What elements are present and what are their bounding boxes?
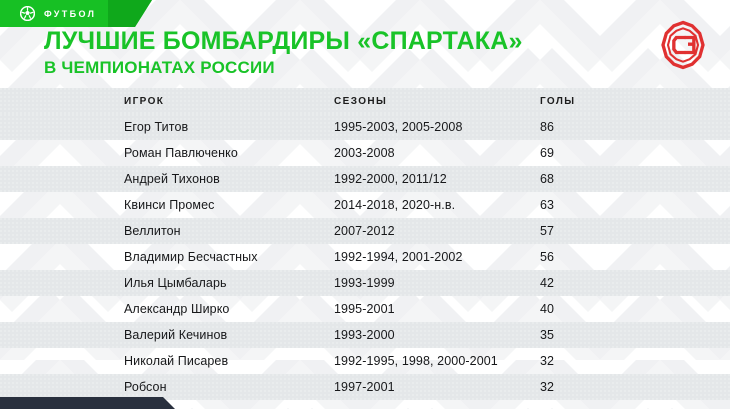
cell-goals: 86	[540, 120, 554, 134]
cell-player: Веллитон	[124, 224, 181, 238]
table-row: Владимир Бесчастных 1992-1994, 2001-2002…	[0, 244, 730, 270]
cell-player: Александр Ширко	[124, 302, 229, 316]
cell-goals: 32	[540, 380, 554, 394]
cell-seasons: 1992-1994, 2001-2002	[334, 250, 463, 264]
table-row: Илья Цымбаларь 1993-1999 42	[0, 270, 730, 296]
cell-player: Квинси Промес	[124, 198, 215, 212]
table-row: Роман Павлюченко 2003-2008 69	[0, 140, 730, 166]
page-title-line2: В ЧЕМПИОНАТАХ РОССИИ	[44, 59, 275, 76]
cell-seasons: 2014-2018, 2020-н.в.	[334, 198, 455, 212]
cell-goals: 63	[540, 198, 554, 212]
footer-bar	[0, 397, 175, 409]
cell-player: Николай Писарев	[124, 354, 228, 368]
column-header-seasons: СЕЗОНЫ	[334, 96, 387, 107]
cell-goals: 57	[540, 224, 554, 238]
cell-seasons: 1997-2001	[334, 380, 395, 394]
cell-player: Илья Цымбаларь	[124, 276, 227, 290]
cell-player: Робсон	[124, 380, 167, 394]
table-row: Александр Ширко 1995-2001 40	[0, 296, 730, 322]
cell-goals: 69	[540, 146, 554, 160]
cell-seasons: 1993-1999	[334, 276, 395, 290]
cell-goals: 32	[540, 354, 554, 368]
column-header-goals: ГОЛЫ	[540, 96, 575, 107]
soccer-ball-icon	[20, 6, 35, 21]
table-header-row: ИГРОК СЕЗОНЫ ГОЛЫ	[0, 88, 730, 114]
cell-seasons: 1992-2000, 2011/12	[334, 172, 447, 186]
table-row: Квинси Промес 2014-2018, 2020-н.в. 63	[0, 192, 730, 218]
infographic-root: ФУТБОЛ ЛУЧШИЕ БОМБАРДИРЫ «СПАРТАКА» В ЧЕ…	[0, 0, 730, 409]
cell-player: Владимир Бесчастных	[124, 250, 258, 264]
cell-goals: 42	[540, 276, 554, 290]
tab-label: ФУТБОЛ	[44, 9, 96, 19]
football-section-tab[interactable]: ФУТБОЛ	[0, 0, 152, 27]
cell-seasons: 2003-2008	[334, 146, 395, 160]
table-row: Веллитон 2007-2012 57	[0, 218, 730, 244]
table-row: Робсон 1997-2001 32	[0, 374, 730, 400]
cell-player: Валерий Кечинов	[124, 328, 227, 342]
column-header-player: ИГРОК	[124, 96, 164, 107]
cell-goals: 40	[540, 302, 554, 316]
cell-goals: 35	[540, 328, 554, 342]
table-row: Валерий Кечинов 1993-2000 35	[0, 322, 730, 348]
cell-goals: 56	[540, 250, 554, 264]
cell-player: Андрей Тихонов	[124, 172, 220, 186]
table-row: Николай Писарев 1992-1995, 1998, 2000-20…	[0, 348, 730, 374]
cell-seasons: 1993-2000	[334, 328, 395, 342]
cell-player: Егор Титов	[124, 120, 188, 134]
cell-goals: 68	[540, 172, 554, 186]
cell-seasons: 1995-2003, 2005-2008	[334, 120, 463, 134]
cell-seasons: 1992-1995, 1998, 2000-2001	[334, 354, 498, 368]
cell-seasons: 1995-2001	[334, 302, 395, 316]
sport-express-logo[interactable]	[658, 20, 708, 70]
cell-seasons: 2007-2012	[334, 224, 395, 238]
scorers-table: ИГРОК СЕЗОНЫ ГОЛЫ Егор Титов 1995-2003, …	[0, 88, 730, 400]
table-row: Егор Титов 1995-2003, 2005-2008 86	[0, 114, 730, 140]
table-row: Андрей Тихонов 1992-2000, 2011/12 68	[0, 166, 730, 192]
cell-player: Роман Павлюченко	[124, 146, 238, 160]
page-title-line1: ЛУЧШИЕ БОМБАРДИРЫ «СПАРТАКА»	[44, 29, 523, 54]
